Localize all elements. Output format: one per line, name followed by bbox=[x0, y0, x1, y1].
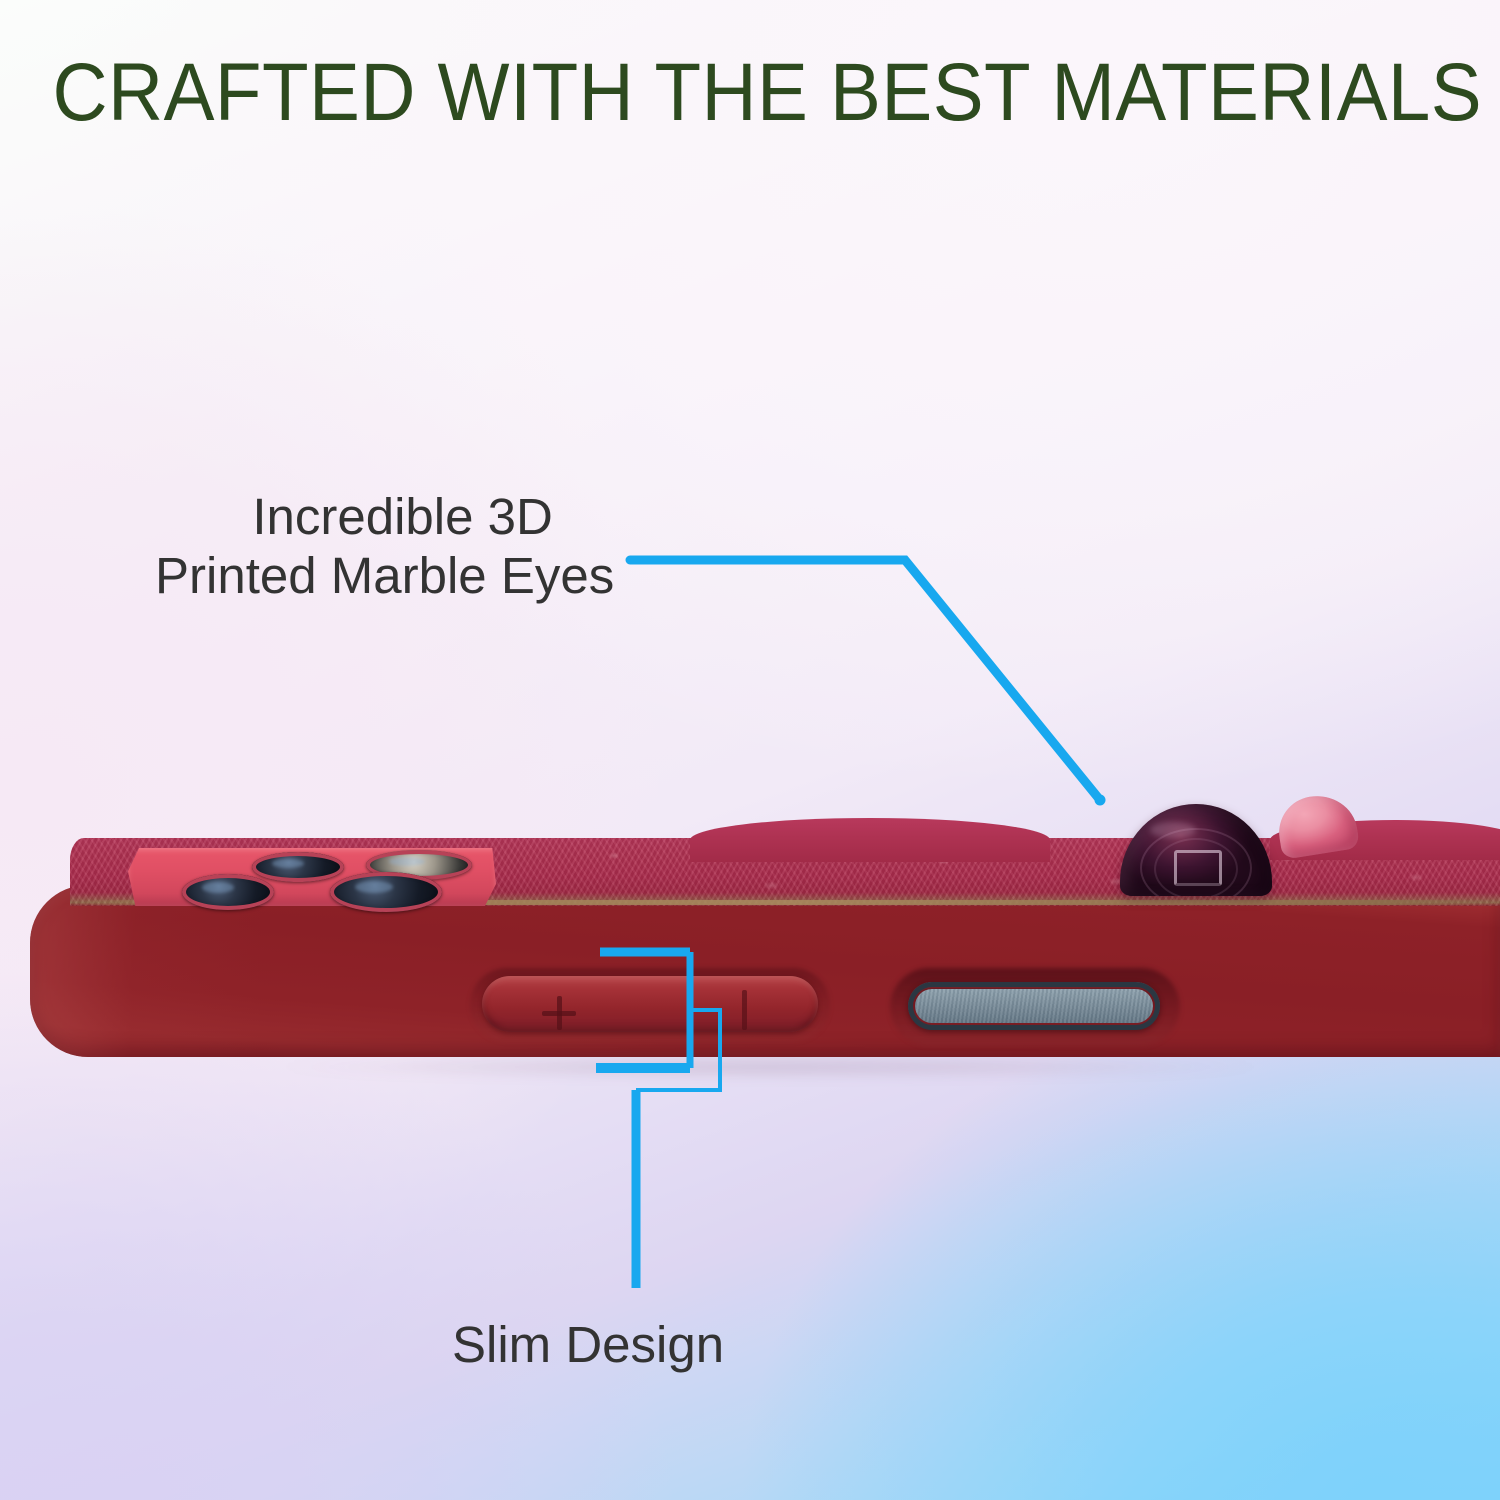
callout-slim-design-line1: Slim Design bbox=[452, 1316, 724, 1373]
power-button[interactable] bbox=[908, 982, 1160, 1030]
callout-slim-design: Slim Design bbox=[452, 1315, 724, 1374]
callout-marble-eyes-line1: Incredible 3D bbox=[155, 487, 614, 546]
plus-icon bbox=[542, 996, 576, 1030]
minus-icon bbox=[742, 990, 747, 1030]
page-title: CRAFTED WITH THE BEST MATERIALS bbox=[53, 52, 1448, 134]
marble-highlight bbox=[1150, 822, 1196, 838]
camera-lens bbox=[182, 874, 274, 910]
camera-lens bbox=[252, 852, 344, 882]
lens-highlight bbox=[202, 882, 233, 893]
case-pink-ear bbox=[1274, 790, 1360, 859]
volume-rocker-button[interactable] bbox=[482, 976, 818, 1032]
callout-marble-eyes: Incredible 3D Printed Marble Eyes bbox=[155, 487, 614, 605]
callout-leader-lines bbox=[0, 0, 1500, 1500]
camera-lens bbox=[330, 872, 442, 912]
marble-reflection-glint bbox=[1174, 850, 1222, 886]
callout-marble-eyes-line2: Printed Marble Eyes bbox=[155, 546, 614, 605]
lens-highlight bbox=[272, 859, 303, 868]
leader-line-marble-eyes bbox=[630, 560, 1106, 806]
flash-highlight bbox=[389, 857, 425, 866]
lens-highlight bbox=[355, 881, 393, 893]
marble-eye bbox=[1120, 804, 1272, 896]
product-feature-graphic: CRAFTED WITH THE BEST MATERIALS bbox=[0, 0, 1500, 1500]
case-muzzle-bulge bbox=[690, 818, 1050, 862]
phone-case-product bbox=[30, 790, 1500, 1075]
case-contact-shadow bbox=[70, 1052, 1470, 1082]
